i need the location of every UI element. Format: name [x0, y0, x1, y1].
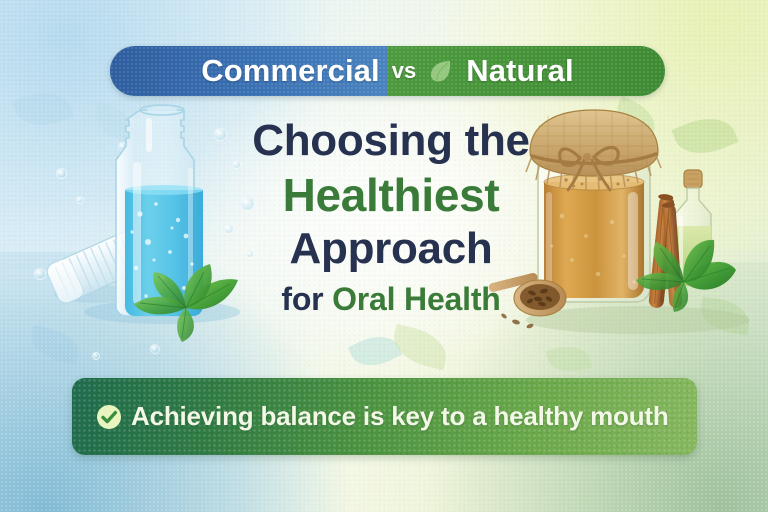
headline-line-2: Healthiest	[236, 171, 546, 220]
page-title: Choosing the Healthiest Approach for Ora…	[236, 118, 546, 317]
check-circle-icon	[96, 404, 122, 430]
comparison-title-pill: Commercial vs Natural	[110, 46, 665, 96]
natural-remedy-illustration	[508, 96, 764, 346]
banner-message: Achieving balance is key to a healthy mo…	[131, 401, 669, 432]
status-banner: Achieving balance is key to a healthy mo…	[72, 378, 697, 455]
headline-line-4: for Oral Health	[236, 283, 546, 317]
headline-line-4-prefix: for	[281, 281, 332, 317]
leaf-icon	[428, 58, 454, 84]
headline-line-4-highlight: Oral Health	[332, 281, 501, 317]
pill-separator-vs: vs	[392, 58, 416, 84]
pill-label-natural: Natural	[466, 53, 574, 89]
pill-label-commercial: Commercial	[201, 53, 379, 89]
mason-jar	[538, 156, 650, 302]
headline-line-3: Approach	[236, 226, 546, 273]
poster-canvas: Commercial vs Natural Choosing the Healt…	[0, 0, 768, 512]
headline-line-1: Choosing the	[236, 118, 546, 165]
